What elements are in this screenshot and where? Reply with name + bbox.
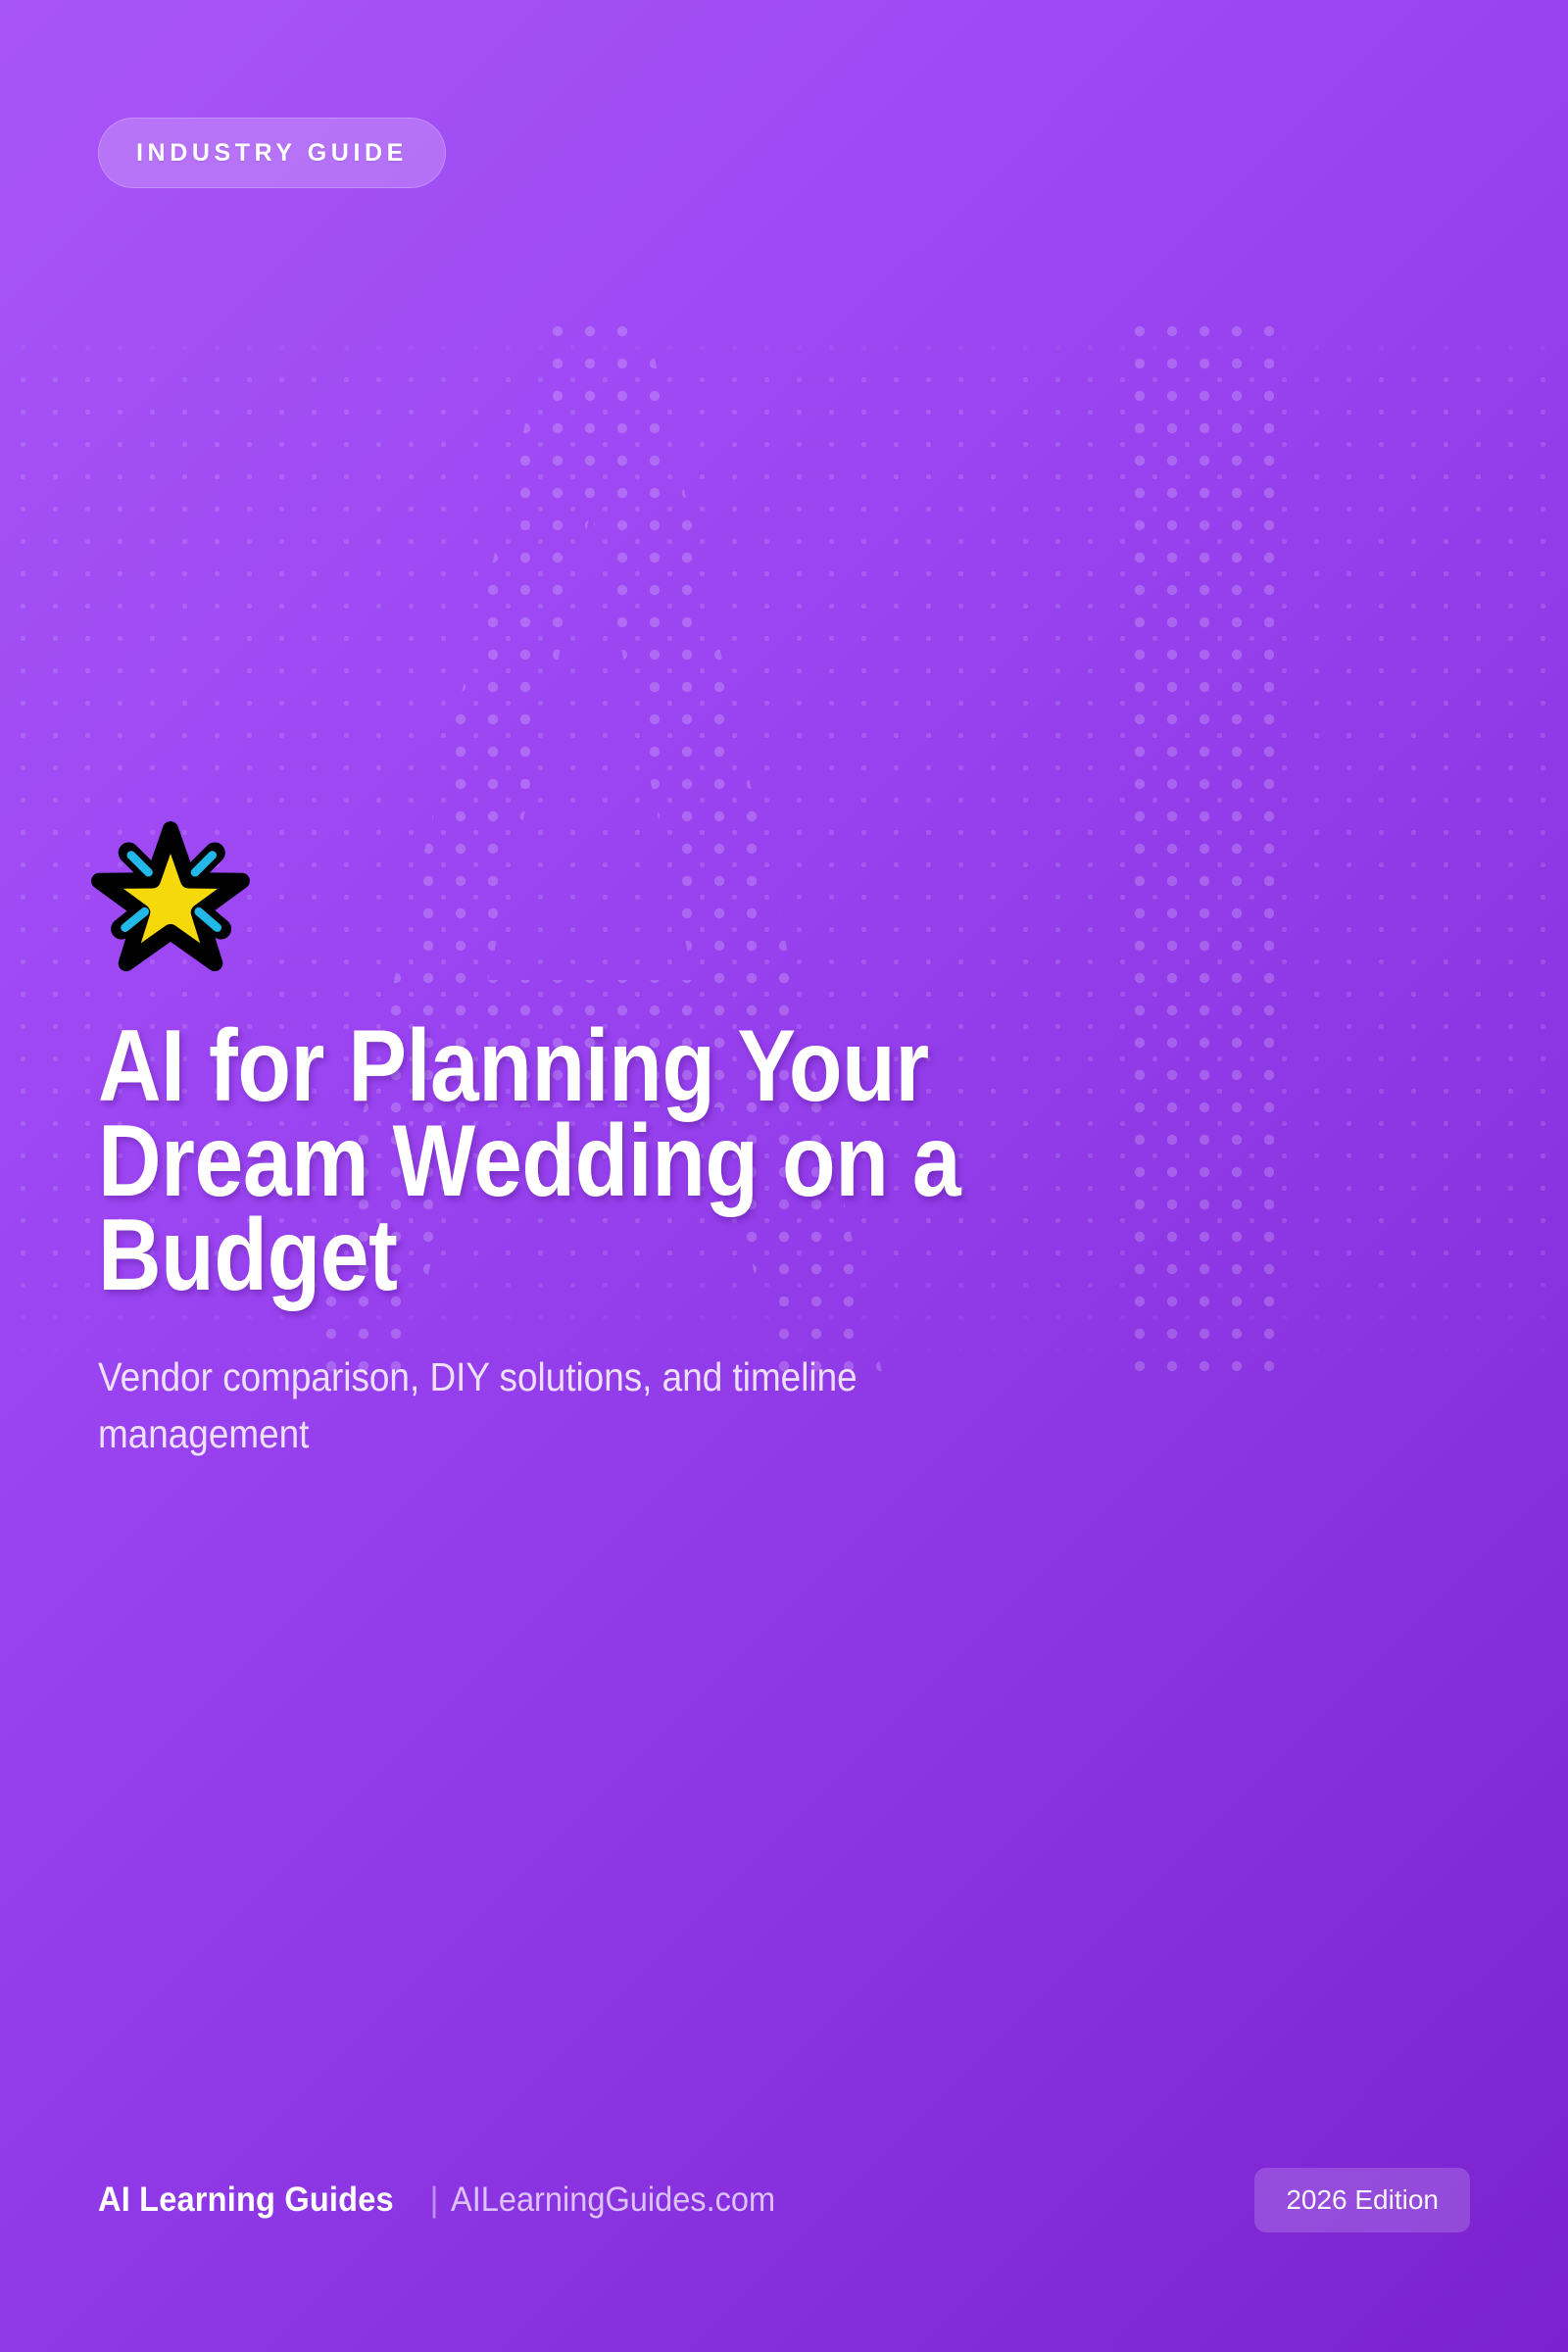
sparkle-star-icon [96, 823, 245, 968]
industry-guide-badge: INDUSTRY GUIDE [98, 118, 446, 188]
hero-text-block: AI for Planning Your Dream Wedding on a … [98, 1019, 1333, 1463]
cover-subtitle: Vendor comparison, DIY solutions, and ti… [98, 1303, 1024, 1462]
cover-title: AI for Planning Your Dream Wedding on a … [98, 1019, 1160, 1303]
footer-brand-line: AI Learning Guides | AILearningGuides.co… [98, 2180, 800, 2220]
footer-brand-name: AI Learning Guides [98, 2180, 394, 2220]
footer-website-url: AILearningGuides.com [451, 2180, 775, 2220]
cover-footer: AI Learning Guides | AILearningGuides.co… [98, 2168, 1470, 2232]
ebook-cover: INDUSTRY GUIDE AI for Planning Your Drea… [0, 0, 1568, 2352]
footer-separator: | [416, 2180, 450, 2220]
edition-badge: 2026 Edition [1254, 2168, 1470, 2232]
